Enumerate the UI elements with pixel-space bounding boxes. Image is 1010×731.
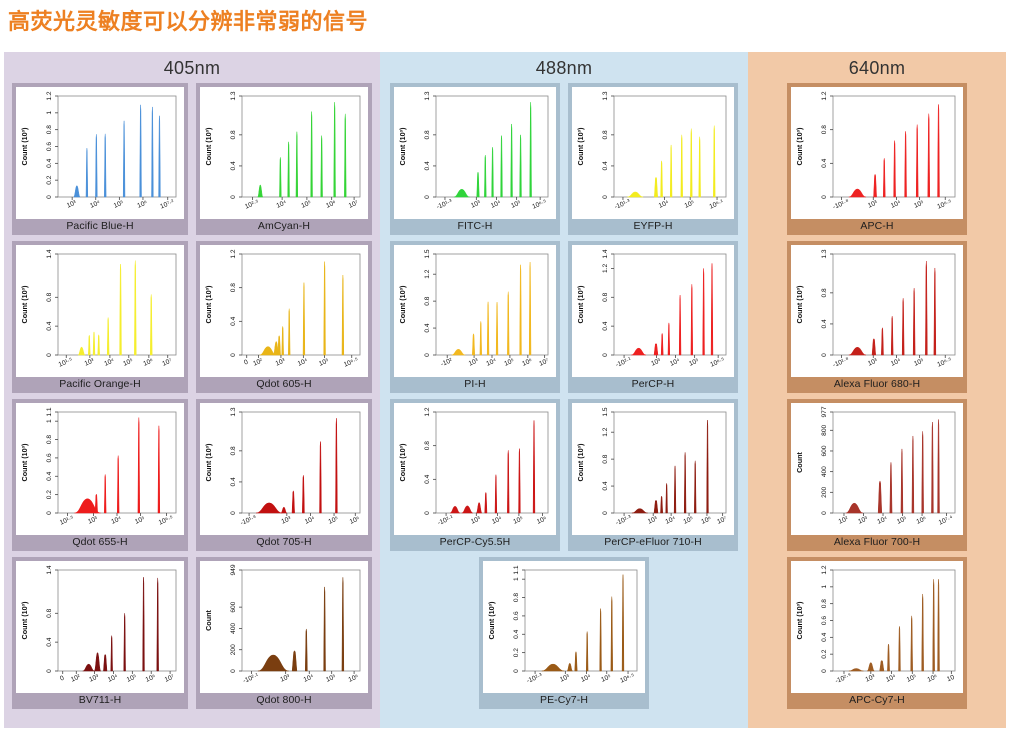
histogram-plot: 00.40.81.3Count (10³)10²·⁵10⁴10⁵10⁶10⁷ — [200, 87, 366, 219]
svg-text:0.4: 0.4 — [424, 474, 431, 483]
svg-text:0: 0 — [46, 669, 53, 673]
histogram-plot: 00.40.81.3Count (10³)-10¹·⁸10³10⁴10⁵10⁶ — [200, 403, 366, 535]
svg-text:600: 600 — [821, 445, 828, 456]
svg-text:1.4: 1.4 — [46, 249, 53, 258]
svg-text:Count (10³): Count (10³) — [487, 601, 496, 640]
svg-text:0.6: 0.6 — [821, 616, 828, 625]
plot-panel[interactable]: 00.40.81.3Count (10³)-10¹·³10⁴10⁵10⁶·¹EY… — [568, 83, 738, 235]
svg-text:1.2: 1.2 — [602, 264, 609, 273]
histogram-plot: 00.20.40.60.811.1Count (10³)-10²·³10³10⁴… — [483, 561, 643, 693]
svg-text:0: 0 — [230, 195, 237, 199]
svg-text:1.1: 1.1 — [513, 565, 520, 574]
svg-text:Count (10³): Count (10³) — [795, 127, 804, 166]
svg-text:Count: Count — [795, 452, 804, 473]
svg-text:0.4: 0.4 — [46, 471, 53, 480]
plot-canvas: 00.40.81.3Count (10³)10²·⁵10⁴10⁵10⁶10⁷ — [200, 87, 368, 219]
histogram-plot: 00.40.81.21.5Count (10³)-10²10³10⁴10⁵10⁶… — [394, 245, 554, 377]
svg-text:0.8: 0.8 — [424, 441, 431, 450]
laser-column-488: 488nm 00.40.81.3Count (10³)-10¹·³10³10⁴1… — [380, 52, 748, 728]
svg-text:1.3: 1.3 — [230, 407, 237, 416]
svg-text:1.1: 1.1 — [46, 407, 53, 416]
plot-caption: AmCyan-H — [200, 219, 368, 235]
svg-text:Count (10³): Count (10³) — [398, 443, 407, 482]
plot-panel[interactable]: 00.20.40.60.811.1Count (10³)-10²·³10³10⁴… — [479, 557, 649, 709]
histogram-plot: 00.40.81.2Count (10³)-10²·¹10³10⁴10⁵10⁶ — [394, 403, 554, 535]
svg-text:1.4: 1.4 — [46, 565, 53, 574]
svg-text:400: 400 — [230, 623, 237, 634]
histogram-plot: 00.40.81.4Count (10³)10¹·⁵10³10⁴10⁵10⁶10… — [16, 245, 182, 377]
plot-panel[interactable]: 00.40.81.21.4Count (10³)-10²·¹10³10⁴10⁵1… — [568, 241, 738, 393]
plot-panel[interactable]: 00.40.81.2Count (10³)010²10³10⁴10⁵10⁶·⁵Q… — [196, 241, 372, 393]
laser-columns: 405nm 00.20.40.60.811.2Count (10³)10³10⁴… — [4, 52, 1006, 728]
histogram-plot: 00.40.81.21.5Count (10³)-10²·³10³10⁴10⁵1… — [572, 403, 732, 535]
plot-canvas: 00.20.40.60.811.1Count (10³)-10²·³10³10⁴… — [483, 561, 645, 693]
plot-canvas: 00.40.81.2Count (10³)-10¹·⁸10³10⁴10⁵10⁶·… — [791, 87, 963, 219]
plot-canvas: 00.40.81.3Count (10³)-10¹·³10³10⁴10⁵10⁶·… — [394, 87, 556, 219]
svg-text:Count (10³): Count (10³) — [20, 601, 29, 640]
svg-text:0.8: 0.8 — [821, 288, 828, 297]
svg-text:Count (10³): Count (10³) — [20, 127, 29, 166]
laser-column-405: 405nm 00.20.40.60.811.2Count (10³)10³10⁴… — [4, 52, 380, 728]
svg-text:0: 0 — [602, 511, 609, 515]
histogram-plot: 00.40.81.3Count (10³)-10¹·³10⁴10⁵10⁶·¹ — [572, 87, 732, 219]
plot-canvas: 00.40.81.21.4Count (10³)-10²·¹10³10⁴10⁵1… — [572, 245, 734, 377]
svg-text:Count (10³): Count (10³) — [398, 285, 407, 324]
svg-text:0.8: 0.8 — [602, 130, 609, 139]
svg-text:0: 0 — [424, 353, 431, 357]
svg-text:1.2: 1.2 — [424, 407, 431, 416]
histogram-plot: 0200400600800977Count10²10³10⁴10⁵10⁶10⁷·… — [791, 403, 961, 535]
svg-text:Count (10³): Count (10³) — [20, 285, 29, 324]
histogram-plot: 00.40.81.21.4Count (10³)-10²·¹10³10⁴10⁵1… — [572, 245, 732, 377]
svg-text:0.4: 0.4 — [602, 481, 609, 490]
plot-caption: EYFP-H — [572, 219, 734, 235]
plot-panel[interactable]: 00.40.81.3Count (10³)-10¹·³10³10⁴10⁵10⁶·… — [390, 83, 560, 235]
svg-text:0: 0 — [46, 195, 53, 199]
plot-canvas: 00.40.81.3Count (10³)-10¹·⁸10³10⁴10⁵10⁶·… — [791, 245, 963, 377]
svg-text:0.8: 0.8 — [46, 608, 53, 617]
histogram-plot: 00.40.81.4Count (10³)010²10³10⁴10⁵10⁶10⁷ — [16, 561, 182, 693]
plot-canvas: 00.40.81.21.5Count (10³)-10²·³10³10⁴10⁵1… — [572, 403, 734, 535]
svg-text:Count (10³): Count (10³) — [20, 443, 29, 482]
svg-text:0.4: 0.4 — [821, 319, 828, 328]
plot-panel[interactable]: 00.40.81.2Count (10³)-10¹·⁸10³10⁴10⁵10⁶·… — [787, 83, 967, 235]
svg-text:1.2: 1.2 — [46, 91, 53, 100]
svg-text:0: 0 — [46, 511, 53, 515]
svg-text:1: 1 — [46, 419, 53, 423]
svg-text:0.4: 0.4 — [424, 161, 431, 170]
svg-text:1.5: 1.5 — [424, 249, 431, 258]
plot-caption: Qdot 655-H — [16, 535, 184, 551]
plot-panel[interactable]: 00.40.81.3Count (10³)-10¹·⁸10³10⁴10⁵10⁶·… — [787, 241, 967, 393]
plot-panel[interactable]: 00.40.81.2Count (10³)-10²·¹10³10⁴10⁵10⁶P… — [390, 399, 560, 551]
plot-caption: Qdot 605-H — [200, 377, 368, 393]
svg-text:0.8: 0.8 — [513, 593, 520, 602]
plot-panel[interactable]: 00.20.40.60.811.2Count (10³)-10²·⁹10³10⁴… — [787, 557, 967, 709]
svg-text:200: 200 — [230, 644, 237, 655]
histogram-plot: 00.40.81.2Count (10³)-10¹·⁸10³10⁴10⁵10⁶·… — [791, 87, 961, 219]
svg-text:0: 0 — [230, 669, 237, 673]
svg-text:1: 1 — [513, 577, 520, 581]
svg-text:0.8: 0.8 — [424, 296, 431, 305]
plot-canvas: 00.40.81.2Count (10³)010²10³10⁴10⁵10⁶·⁵ — [200, 245, 368, 377]
svg-text:Count (10³): Count (10³) — [204, 285, 213, 324]
svg-text:977: 977 — [821, 406, 828, 417]
plot-panel[interactable]: 00.40.81.3Count (10³)-10¹·⁸10³10⁴10⁵10⁶Q… — [196, 399, 372, 551]
svg-text:0.4: 0.4 — [602, 321, 609, 330]
plot-panel[interactable]: 00.40.81.4Count (10³)10¹·⁵10³10⁴10⁵10⁶10… — [12, 241, 188, 393]
svg-text:0.8: 0.8 — [821, 599, 828, 608]
svg-text:1.4: 1.4 — [602, 249, 609, 258]
svg-text:1.3: 1.3 — [602, 91, 609, 100]
svg-text:949: 949 — [230, 564, 237, 575]
svg-text:600: 600 — [230, 601, 237, 612]
svg-text:0: 0 — [46, 353, 53, 357]
histogram-plot: 00.20.40.60.811.1Count (10³)10¹·⁵10³10⁴1… — [16, 403, 182, 535]
plot-panel[interactable]: 00.40.81.21.5Count (10³)-10²·³10³10⁴10⁵1… — [568, 399, 738, 551]
laser-column-640: 640nm 00.40.81.2Count (10³)-10¹·⁸10³10⁴1… — [748, 52, 1006, 728]
svg-text:1.2: 1.2 — [230, 249, 237, 258]
svg-text:0: 0 — [821, 669, 828, 673]
plot-canvas: 00.40.81.4Count (10³)10¹·⁵10³10⁴10⁵10⁶10… — [16, 245, 184, 377]
plot-caption: Alexa Fluor 700-H — [791, 535, 963, 551]
svg-text:Count (10³): Count (10³) — [204, 127, 213, 166]
plot-caption: BV711-H — [16, 693, 184, 709]
plot-caption: Qdot 705-H — [200, 535, 368, 551]
svg-text:0.4: 0.4 — [602, 161, 609, 170]
plot-canvas: 00.20.40.60.811.2Count (10³)10³10⁴10⁵10⁶… — [16, 87, 184, 219]
svg-text:1.3: 1.3 — [424, 91, 431, 100]
plot-panel[interactable]: 00.20.40.60.811.2Count (10³)10³10⁴10⁵10⁶… — [12, 83, 188, 235]
svg-text:0.8: 0.8 — [230, 446, 237, 455]
plot-canvas: 0200400600800977Count10²10³10⁴10⁵10⁶10⁷·… — [791, 403, 963, 535]
plot-canvas: 00.20.40.60.811.1Count (10³)10¹·⁵10³10⁴1… — [16, 403, 184, 535]
plot-panel[interactable]: 0200400600949Count-10²·¹10³10⁴10⁵10⁶Qdot… — [196, 557, 372, 709]
plot-panel[interactable]: 00.40.81.21.5Count (10³)-10²10³10⁴10⁵10⁶… — [390, 241, 560, 393]
svg-text:0: 0 — [230, 511, 237, 515]
svg-text:0.4: 0.4 — [821, 158, 828, 167]
svg-text:0.8: 0.8 — [821, 125, 828, 134]
plot-grid-405: 00.20.40.60.811.2Count (10³)10³10⁴10⁵10⁶… — [4, 83, 380, 709]
svg-text:1.5: 1.5 — [602, 407, 609, 416]
svg-text:0.6: 0.6 — [46, 453, 53, 462]
svg-text:0: 0 — [602, 353, 609, 357]
plot-caption: FITC-H — [394, 219, 556, 235]
laser-title-488: 488nm — [536, 58, 593, 79]
svg-text:0.4: 0.4 — [821, 632, 828, 641]
laser-title-405: 405nm — [164, 58, 221, 79]
svg-text:Count (10³): Count (10³) — [576, 127, 585, 166]
plot-caption: Qdot 800-H — [200, 693, 368, 709]
svg-text:1.2: 1.2 — [821, 91, 828, 100]
plot-panel[interactable]: 00.20.40.60.811.1Count (10³)10¹·⁵10³10⁴1… — [12, 399, 188, 551]
plot-grid-488: 00.40.81.3Count (10³)-10¹·³10³10⁴10⁵10⁶·… — [380, 83, 748, 709]
plot-canvas: 00.40.81.2Count (10³)-10²·¹10³10⁴10⁵10⁶ — [394, 403, 556, 535]
svg-text:800: 800 — [821, 424, 828, 435]
plot-caption: APC-H — [791, 219, 963, 235]
svg-text:0: 0 — [821, 511, 828, 515]
svg-text:0.8: 0.8 — [602, 292, 609, 301]
svg-text:1.3: 1.3 — [230, 91, 237, 100]
svg-text:Count (10³): Count (10³) — [398, 127, 407, 166]
svg-text:0.8: 0.8 — [230, 283, 237, 292]
plot-canvas: 00.40.81.21.5Count (10³)-10²10³10⁴10⁵10⁶… — [394, 245, 556, 377]
svg-text:0.8: 0.8 — [424, 130, 431, 139]
svg-text:0.4: 0.4 — [513, 629, 520, 638]
svg-text:0: 0 — [513, 669, 520, 673]
plot-caption: Pacific Blue-H — [16, 219, 184, 235]
svg-text:0.4: 0.4 — [230, 316, 237, 325]
plot-caption: PerCP-H — [572, 377, 734, 393]
svg-text:1.3: 1.3 — [821, 249, 828, 258]
svg-text:0.4: 0.4 — [424, 323, 431, 332]
page-title: 高荧光灵敏度可以分辨非常弱的信号 — [8, 4, 368, 36]
svg-text:Count (10³): Count (10³) — [576, 443, 585, 482]
svg-text:Count (10³): Count (10³) — [795, 285, 804, 324]
svg-text:0.4: 0.4 — [230, 161, 237, 170]
svg-text:0: 0 — [424, 195, 431, 199]
plot-caption: PI-H — [394, 377, 556, 393]
svg-text:0: 0 — [230, 353, 237, 357]
svg-text:0.8: 0.8 — [46, 435, 53, 444]
svg-text:1.2: 1.2 — [602, 427, 609, 436]
svg-text:200: 200 — [821, 486, 828, 497]
svg-text:400: 400 — [821, 466, 828, 477]
plot-caption: PerCP-eFluor 710-H — [572, 535, 734, 551]
plot-caption: Alexa Fluor 680-H — [791, 377, 963, 393]
svg-text:Count: Count — [204, 610, 213, 631]
plot-caption: APC-Cy7-H — [791, 693, 963, 709]
plot-canvas: 00.40.81.3Count (10³)-10¹·⁸10³10⁴10⁵10⁶ — [200, 403, 368, 535]
svg-text:Count (10³): Count (10³) — [204, 443, 213, 482]
histogram-plot: 00.20.40.60.811.2Count (10³)10³10⁴10⁵10⁶… — [16, 87, 182, 219]
plot-panel[interactable]: 0200400600800977Count10²10³10⁴10⁵10⁶10⁷·… — [787, 399, 967, 551]
plot-caption: PerCP-Cy5.5H — [394, 535, 556, 551]
histogram-plot: 0200400600949Count-10²·¹10³10⁴10⁵10⁶ — [200, 561, 366, 693]
svg-text:0.8: 0.8 — [46, 125, 53, 134]
svg-text:0.4: 0.4 — [230, 477, 237, 486]
svg-text:0.4: 0.4 — [46, 158, 53, 167]
svg-text:0.6: 0.6 — [46, 142, 53, 151]
plot-canvas: 0200400600949Count-10²·¹10³10⁴10⁵10⁶ — [200, 561, 368, 693]
svg-text:1: 1 — [46, 111, 53, 115]
laser-title-640: 640nm — [849, 58, 906, 79]
svg-text:0.8: 0.8 — [602, 454, 609, 463]
svg-text:0.4: 0.4 — [46, 321, 53, 330]
plot-canvas: 00.40.81.3Count (10³)-10¹·³10⁴10⁵10⁶·¹ — [572, 87, 734, 219]
svg-text:0: 0 — [821, 195, 828, 199]
svg-text:0.6: 0.6 — [513, 611, 520, 620]
plot-grid-640: 00.40.81.2Count (10³)-10¹·⁸10³10⁴10⁵10⁶·… — [781, 83, 973, 709]
plot-caption: Pacific Orange-H — [16, 377, 184, 393]
svg-text:1: 1 — [821, 585, 828, 589]
svg-text:0.8: 0.8 — [46, 292, 53, 301]
svg-text:0.2: 0.2 — [46, 175, 53, 184]
histogram-plot: 00.20.40.60.811.2Count (10³)-10²·⁹10³10⁴… — [791, 561, 961, 693]
plot-canvas: 00.40.81.4Count (10³)010²10³10⁴10⁵10⁶10⁷ — [16, 561, 184, 693]
svg-text:0.4: 0.4 — [46, 637, 53, 646]
histogram-plot: 00.40.81.2Count (10³)010²10³10⁴10⁵10⁶·⁵ — [200, 245, 366, 377]
svg-text:Count (10³): Count (10³) — [795, 601, 804, 640]
svg-text:0.2: 0.2 — [46, 490, 53, 499]
svg-text:0: 0 — [424, 511, 431, 515]
histogram-plot: 00.40.81.3Count (10³)-10¹·³10³10⁴10⁵10⁶·… — [394, 87, 554, 219]
svg-text:0.2: 0.2 — [821, 649, 828, 658]
histogram-plot: 00.40.81.3Count (10³)-10¹·⁸10³10⁴10⁵10⁶·… — [791, 245, 961, 377]
plot-canvas: 00.20.40.60.811.2Count (10³)-10²·⁹10³10⁴… — [791, 561, 963, 693]
plot-panel[interactable]: 00.40.81.3Count (10³)10²·⁵10⁴10⁵10⁶10⁷Am… — [196, 83, 372, 235]
svg-text:1.2: 1.2 — [424, 269, 431, 278]
svg-text:0: 0 — [602, 195, 609, 199]
svg-text:1.2: 1.2 — [821, 565, 828, 574]
svg-text:0.2: 0.2 — [513, 648, 520, 657]
svg-text:0: 0 — [821, 353, 828, 357]
plot-panel[interactable]: 00.40.81.4Count (10³)010²10³10⁴10⁵10⁶10⁷… — [12, 557, 188, 709]
svg-text:Count (10³): Count (10³) — [576, 285, 585, 324]
plot-caption: PE-Cy7-H — [483, 693, 645, 709]
svg-text:0.8: 0.8 — [230, 130, 237, 139]
